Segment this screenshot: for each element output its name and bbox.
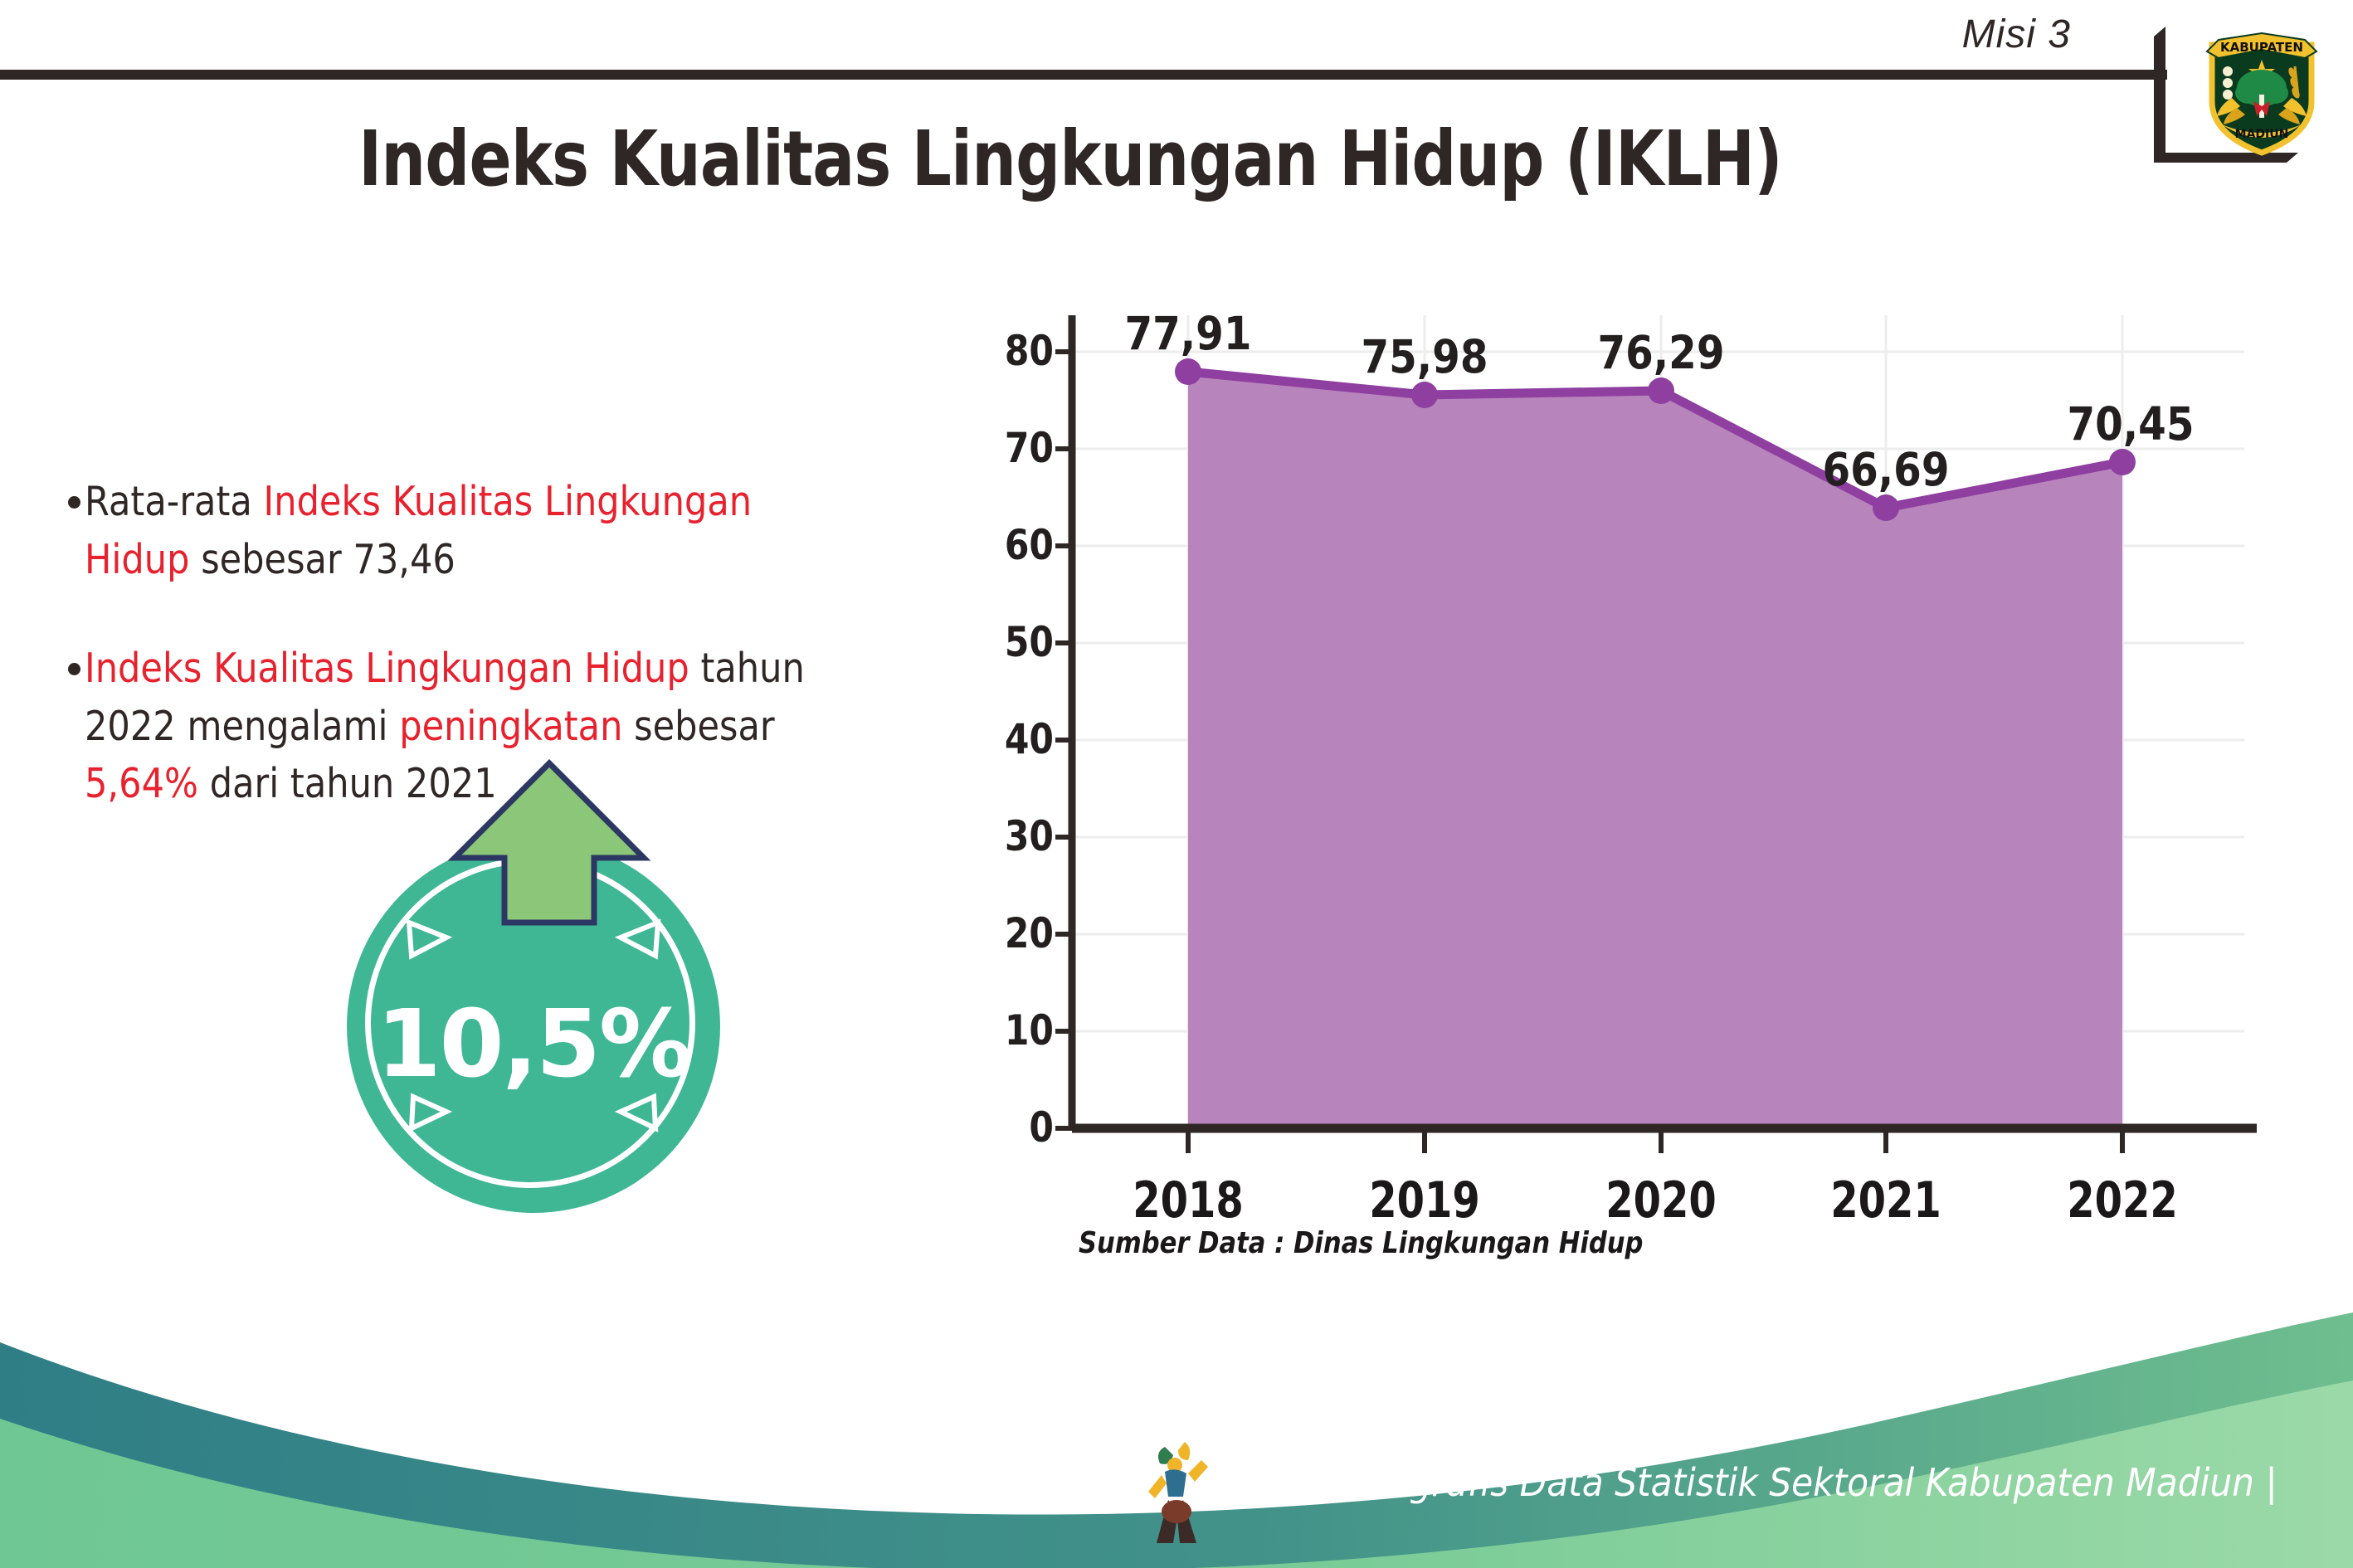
header-divider-line bbox=[0, 70, 2167, 80]
data-label: 77,91 bbox=[1079, 307, 1298, 360]
misi-label: Misi 3 bbox=[1962, 12, 2071, 57]
x-tick-label: 2021 bbox=[1800, 1171, 1972, 1230]
y-tick-label: 60 bbox=[969, 521, 1054, 569]
increase-badge: 10,5% bbox=[330, 757, 762, 1205]
y-tick-label: 30 bbox=[969, 812, 1054, 860]
bullet-dot-icon bbox=[68, 496, 80, 509]
bullet2-highlight-1: Indeks Kualitas Lingkungan Hidup bbox=[85, 645, 689, 692]
badge-value-label: 10,5% bbox=[347, 991, 720, 1098]
bullet-dot-icon bbox=[68, 663, 80, 675]
chart-source-note: Sumber Data : Dinas Lingkungan Hidup bbox=[1079, 1226, 1643, 1260]
bullet-text-1: Rata-rata Indeks Kualitas Lingkungan Hid… bbox=[85, 473, 822, 588]
bullet2-middle-2: sebesar bbox=[622, 703, 774, 750]
y-tick-label: 80 bbox=[969, 327, 1054, 375]
iklh-area-chart: 80 70 60 50 40 30 20 10 0 2018 2019 2020… bbox=[962, 282, 2290, 1211]
y-tick-label: 10 bbox=[969, 1006, 1054, 1054]
kabupaten-madiun-crest-logo: KABUPATEN MADIUN bbox=[2189, 15, 2335, 161]
y-tick-label: 50 bbox=[969, 618, 1054, 666]
y-tick-label: 70 bbox=[969, 424, 1054, 472]
crest-top-banner-text: KABUPATEN bbox=[2220, 40, 2303, 55]
bullet1-middle: sebesar 73,46 bbox=[189, 536, 455, 583]
x-tick-label: 2020 bbox=[1575, 1171, 1747, 1230]
footer-caption: Media Infografis Data Statistik Sektoral… bbox=[1226, 1460, 2277, 1505]
y-tick-label: 20 bbox=[969, 909, 1054, 957]
list-item: Rata-rata Indeks Kualitas Lingkungan Hid… bbox=[68, 473, 923, 588]
crest-bottom-banner-text: MADIUN bbox=[2235, 128, 2289, 141]
data-label: 66,69 bbox=[1776, 443, 1995, 496]
up-arrow-icon bbox=[383, 757, 715, 1006]
media-infografis-figure-logo bbox=[1137, 1432, 1228, 1556]
data-label: 70,45 bbox=[2021, 397, 2240, 450]
y-tick-label: 40 bbox=[969, 715, 1054, 763]
bullet2-highlight-3: 5,64% bbox=[85, 760, 198, 807]
x-tick-label: 2019 bbox=[1338, 1171, 1511, 1230]
bullet2-highlight-2: peningkatan bbox=[399, 703, 622, 750]
data-label: 75,98 bbox=[1315, 330, 1534, 383]
bullet1-prefix: Rata-rata bbox=[85, 478, 264, 525]
page-title: Indeks Kualitas Lingkungan Hidup (IKLH) bbox=[192, 114, 1948, 203]
y-tick-label: 0 bbox=[969, 1103, 1054, 1152]
x-tick-label: 2022 bbox=[2036, 1171, 2209, 1230]
x-tick-label: 2018 bbox=[1102, 1171, 1274, 1230]
data-label: 76,29 bbox=[1552, 326, 1771, 379]
